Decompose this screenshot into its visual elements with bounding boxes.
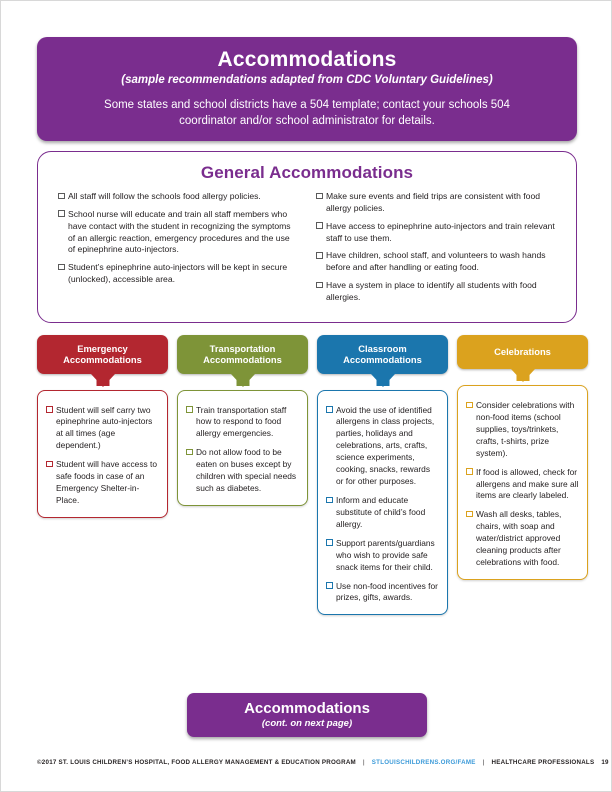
list-item-label: School nurse will educate and train all … (68, 209, 298, 256)
banner-body-text: Some states and school districts have a … (92, 97, 522, 130)
column-header-line2: Accommodations (203, 354, 282, 365)
checkbox-icon[interactable] (326, 582, 333, 589)
list-item: Do not allow food to be eaten on buses e… (186, 447, 299, 495)
checkbox-icon[interactable] (316, 222, 323, 229)
list-item-label: Support parents/guardians who wish to pr… (336, 538, 439, 574)
column-transportation: Transportation Accommodations Train tran… (177, 335, 308, 506)
list-item: Have a system in place to identify all s… (316, 280, 556, 304)
list-item-label: Train transportation staff how to respon… (196, 405, 299, 441)
general-left-column: All staff will follow the schools food a… (58, 191, 298, 310)
list-item: Student will self carry two epinephrine … (46, 405, 159, 453)
bottom-banner: Accommodations (cont. on next page) (187, 693, 427, 737)
footer-website-link[interactable]: STLOUISCHILDRENS.ORG/FAME (372, 759, 476, 766)
list-item-label: Have children, school staff, and volunte… (326, 250, 556, 274)
list-item-label: Student will self carry two epinephrine … (56, 405, 159, 453)
column-header-celebrations: Celebrations (457, 335, 588, 369)
title-banner: Accommodations (sample recommendations a… (37, 37, 577, 141)
checkbox-icon[interactable] (326, 497, 333, 504)
column-header-line2: Accommodations (343, 354, 422, 365)
list-item: Inform and educate substitute of child’s… (326, 495, 439, 531)
footer-section: HEALTHCARE PROFESSIONALS (492, 759, 595, 766)
list-item: If food is allowed, check for allergens … (466, 467, 579, 503)
checkbox-icon[interactable] (466, 402, 473, 409)
page-title: Accommodations (218, 48, 397, 72)
general-accommodations-card: General Accommodations All staff will fo… (37, 151, 577, 323)
list-item-label: Wash all desks, tables, chairs, with soa… (476, 509, 579, 569)
checkbox-icon[interactable] (466, 511, 473, 518)
column-header-transportation: Transportation Accommodations (177, 335, 308, 374)
list-item: Consider celebrations with non-food item… (466, 400, 579, 460)
column-header-line1: Emergency (77, 343, 128, 354)
list-item-label: Use non-food incentives for prizes, gift… (336, 581, 439, 605)
footer-separator-1: | (363, 759, 365, 766)
list-item: School nurse will educate and train all … (58, 209, 298, 256)
list-item: Wash all desks, tables, chairs, with soa… (466, 509, 579, 569)
list-item-label: Avoid the use of identified allergens in… (336, 405, 439, 488)
arrow-down-icon (91, 374, 115, 387)
document-page: Accommodations (sample recommendations a… (0, 0, 612, 792)
page-subtitle: (sample recommendations adapted from CDC… (121, 74, 492, 88)
column-card-classroom: Avoid the use of identified allergens in… (317, 390, 448, 616)
list-item-label: Inform and educate substitute of child’s… (336, 495, 439, 531)
list-item: All staff will follow the schools food a… (58, 191, 298, 203)
list-item-label: Student’s epinephrine auto-injectors wil… (68, 262, 298, 286)
checkbox-icon[interactable] (46, 406, 53, 413)
arrow-down-icon (231, 374, 255, 387)
list-item-label: Have access to epinephrine auto-injector… (326, 221, 556, 245)
column-card-transportation: Train transportation staff how to respon… (177, 390, 308, 506)
arrow-down-icon (511, 369, 535, 382)
footer: ©2017 ST. LOUIS CHILDREN’S HOSPITAL, FOO… (37, 759, 577, 766)
checkbox-icon[interactable] (58, 264, 65, 271)
checkbox-icon[interactable] (58, 210, 65, 217)
general-right-column: Make sure events and field trips are con… (316, 191, 556, 310)
list-item-label: Have a system in place to identify all s… (326, 280, 556, 304)
footer-page-number: 19 (601, 759, 608, 766)
column-header-line1: Transportation (210, 343, 276, 354)
column-celebrations: Celebrations Consider celebrations with … (457, 335, 588, 580)
list-item: Have access to epinephrine auto-injector… (316, 221, 556, 245)
list-item: Have children, school staff, and volunte… (316, 250, 556, 274)
column-header-emergency: Emergency Accommodations (37, 335, 168, 374)
column-card-emergency: Student will self carry two epinephrine … (37, 390, 168, 518)
footer-copyright: ©2017 ST. LOUIS CHILDREN’S HOSPITAL, FOO… (37, 759, 356, 766)
column-header-line2: Accommodations (63, 354, 142, 365)
list-item-label: Make sure events and field trips are con… (326, 191, 556, 215)
column-header-classroom: Classroom Accommodations (317, 335, 448, 374)
checkbox-icon[interactable] (186, 406, 193, 413)
checkbox-icon[interactable] (46, 461, 53, 468)
list-item-label: Student will have access to safe foods i… (56, 459, 159, 507)
bottom-banner-title: Accommodations (244, 701, 370, 718)
general-accommodations-columns: All staff will follow the schools food a… (38, 183, 576, 310)
list-item-label: All staff will follow the schools food a… (68, 191, 298, 203)
category-columns: Emergency Accommodations Student will se… (1, 335, 612, 675)
list-item: Make sure events and field trips are con… (316, 191, 556, 215)
column-classroom: Classroom Accommodations Avoid the use o… (317, 335, 448, 615)
list-item-label: Do not allow food to be eaten on buses e… (196, 447, 299, 495)
arrow-down-icon (371, 374, 395, 387)
footer-separator-2: | (483, 759, 485, 766)
checkbox-icon[interactable] (466, 468, 473, 475)
list-item: Use non-food incentives for prizes, gift… (326, 581, 439, 605)
list-item: Student will have access to safe foods i… (46, 459, 159, 507)
list-item: Avoid the use of identified allergens in… (326, 405, 439, 488)
column-emergency: Emergency Accommodations Student will se… (37, 335, 168, 518)
list-item: Student’s epinephrine auto-injectors wil… (58, 262, 298, 286)
column-header-line1: Classroom (358, 343, 406, 354)
checkbox-icon[interactable] (186, 449, 193, 456)
list-item-label: If food is allowed, check for allergens … (476, 467, 579, 503)
bottom-banner-subtitle: (cont. on next page) (262, 718, 352, 729)
general-accommodations-title: General Accommodations (38, 163, 576, 183)
checkbox-icon[interactable] (316, 282, 323, 289)
checkbox-icon[interactable] (58, 193, 65, 200)
list-item: Support parents/guardians who wish to pr… (326, 538, 439, 574)
column-card-celebrations: Consider celebrations with non-food item… (457, 385, 588, 580)
checkbox-icon[interactable] (316, 193, 323, 200)
list-item: Train transportation staff how to respon… (186, 405, 299, 441)
checkbox-icon[interactable] (316, 252, 323, 259)
column-header-line1: Celebrations (494, 346, 551, 357)
checkbox-icon[interactable] (326, 539, 333, 546)
list-item-label: Consider celebrations with non-food item… (476, 400, 579, 460)
checkbox-icon[interactable] (326, 406, 333, 413)
